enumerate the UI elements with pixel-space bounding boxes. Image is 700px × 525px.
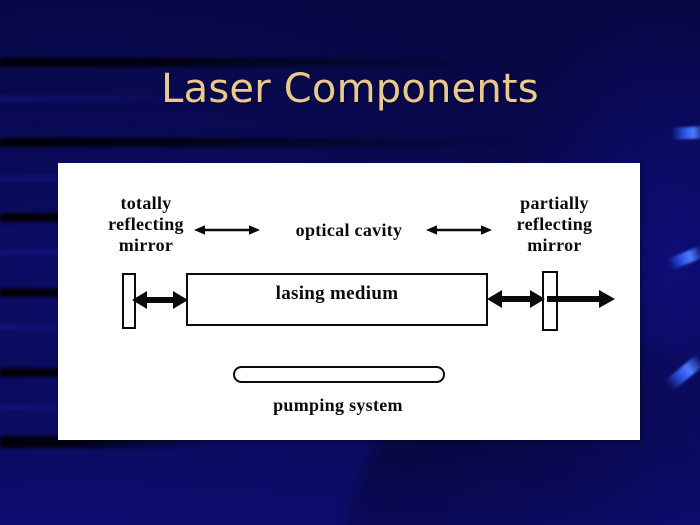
arrow-cavity-span-left-icon: [194, 223, 260, 237]
arrow-cavity-span-right-icon: [426, 223, 492, 237]
pumping-system-bar: [233, 366, 445, 383]
label-pumping-system: pumping system: [208, 395, 468, 416]
arrow-right-mirror-gap-icon: [487, 289, 545, 309]
label-lasing-medium: lasing medium: [186, 283, 488, 305]
presentation-slide: Laser Components totally reflecting mirr…: [0, 0, 700, 525]
accent-slash-top-icon: [672, 126, 700, 140]
background-stripe: [0, 138, 520, 147]
diagram-panel: totally reflecting mirror optical cavity…: [58, 163, 640, 440]
label-optical-cavity: optical cavity: [254, 220, 444, 241]
arrow-output-beam-icon: [547, 289, 615, 309]
laser-components-diagram: totally reflecting mirror optical cavity…: [58, 163, 640, 440]
arrow-left-mirror-gap-icon: [132, 290, 188, 310]
label-partially-reflecting-mirror: partially reflecting mirror: [482, 193, 627, 257]
slide-title: Laser Components: [0, 66, 700, 112]
